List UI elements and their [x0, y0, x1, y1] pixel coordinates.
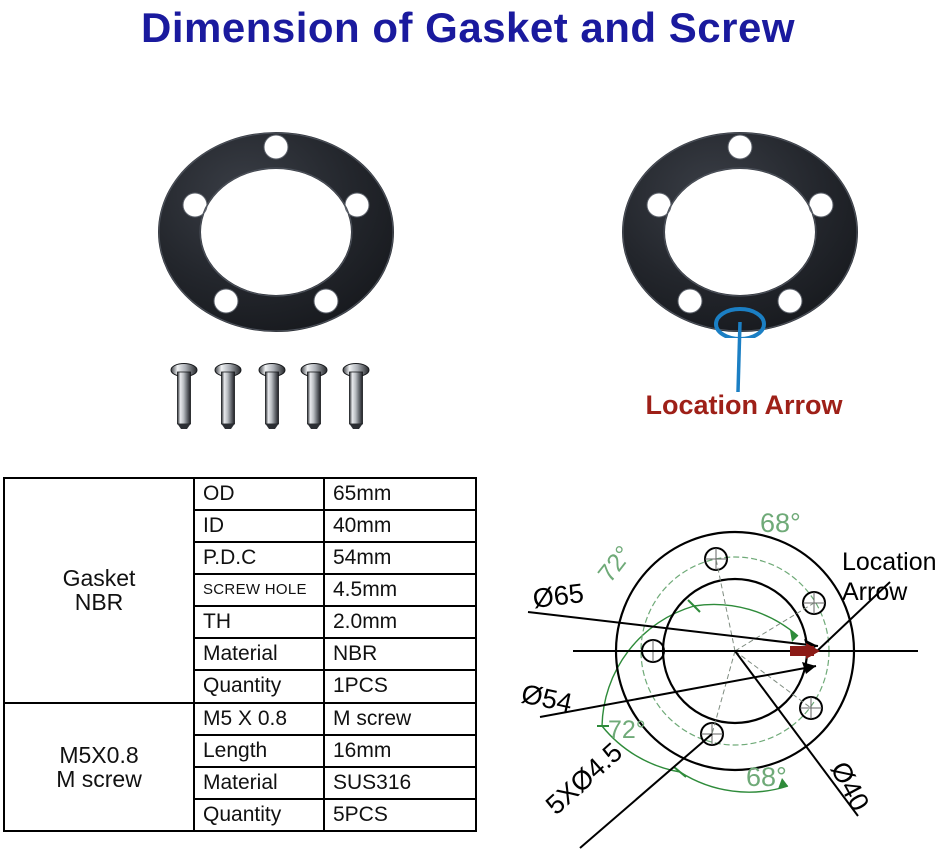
- screws-svg: [170, 358, 370, 438]
- group-label-screw: M5X0.8 M screw: [4, 703, 194, 831]
- gasket-photo-plain: [150, 126, 402, 338]
- cell-value: 4.5mm: [324, 574, 476, 606]
- cad-drawing: 68° 72° 72° 68° Ø65 Ø54 Ø40 5XØ4.5 Locat…: [498, 486, 936, 852]
- cell-property: Material: [194, 767, 324, 799]
- gasket-body: [614, 126, 866, 338]
- screw-item: [301, 364, 327, 430]
- gasket-body: [150, 126, 402, 338]
- screw-item: [259, 364, 285, 430]
- group-label-line1: Gasket: [5, 566, 193, 590]
- table-row: M5X0.8 M screw M5 X 0.8 M screw: [4, 703, 476, 735]
- page-title: Dimension of Gasket and Screw: [0, 4, 936, 52]
- cell-property: M5 X 0.8: [194, 703, 324, 735]
- angle-68-bottom: 68°: [746, 762, 787, 792]
- gasket-photo-annotated: [614, 126, 866, 338]
- cell-property: Length: [194, 735, 324, 767]
- cell-value: 65mm: [324, 478, 476, 510]
- cell-value: 1PCS: [324, 670, 476, 702]
- cad-callout-line2: Arrow: [842, 578, 908, 606]
- screw-item: [343, 364, 369, 430]
- cell-value: M screw: [324, 703, 476, 735]
- page-root: Dimension of Gasket and Screw: [0, 0, 936, 852]
- location-leader-line: [700, 322, 780, 396]
- cell-value: NBR: [324, 638, 476, 670]
- group-label-gasket: Gasket NBR: [4, 478, 194, 703]
- cell-property: TH: [194, 606, 324, 638]
- cell-property: Material: [194, 638, 324, 670]
- screw-item: [215, 364, 241, 430]
- cell-value: 40mm: [324, 510, 476, 542]
- location-arrow-callout: Location Arrow: [604, 390, 884, 421]
- dim-screw-hole-5x45: 5XØ4.5: [540, 737, 628, 821]
- cell-value: 2.0mm: [324, 606, 476, 638]
- group-label-line2: M screw: [5, 767, 193, 791]
- cell-value: SUS316: [324, 767, 476, 799]
- dim-pcd-54: Ø54: [519, 679, 575, 719]
- angle-72-lower-left: 72°: [608, 716, 646, 744]
- screw-item: [171, 364, 197, 430]
- cell-property: P.D.C: [194, 542, 324, 574]
- cell-property: SCREW HOLE: [194, 574, 324, 606]
- dim-id-40: Ø40: [825, 757, 875, 816]
- cell-value: 5PCS: [324, 799, 476, 831]
- radial-construction-lines: [653, 559, 814, 734]
- cell-property: Quantity: [194, 799, 324, 831]
- cell-property: Quantity: [194, 670, 324, 702]
- screw-photo-row: [170, 358, 370, 438]
- table-row: Gasket NBR OD 65mm: [4, 478, 476, 510]
- group-label-line1: M5X0.8: [5, 743, 193, 767]
- cell-value: 16mm: [324, 735, 476, 767]
- cell-property: ID: [194, 510, 324, 542]
- cad-callout-line1: Location: [842, 548, 936, 576]
- dim-od-65: Ø65: [531, 578, 585, 614]
- specification-table: Gasket NBR OD 65mm ID 40mm P.D.C 54mm SC…: [3, 477, 477, 832]
- angle-72-upper-left: 72°: [593, 541, 638, 588]
- cell-property: OD: [194, 478, 324, 510]
- cell-value: 54mm: [324, 542, 476, 574]
- angle-68-top: 68°: [760, 508, 801, 538]
- group-label-line2: NBR: [5, 590, 193, 614]
